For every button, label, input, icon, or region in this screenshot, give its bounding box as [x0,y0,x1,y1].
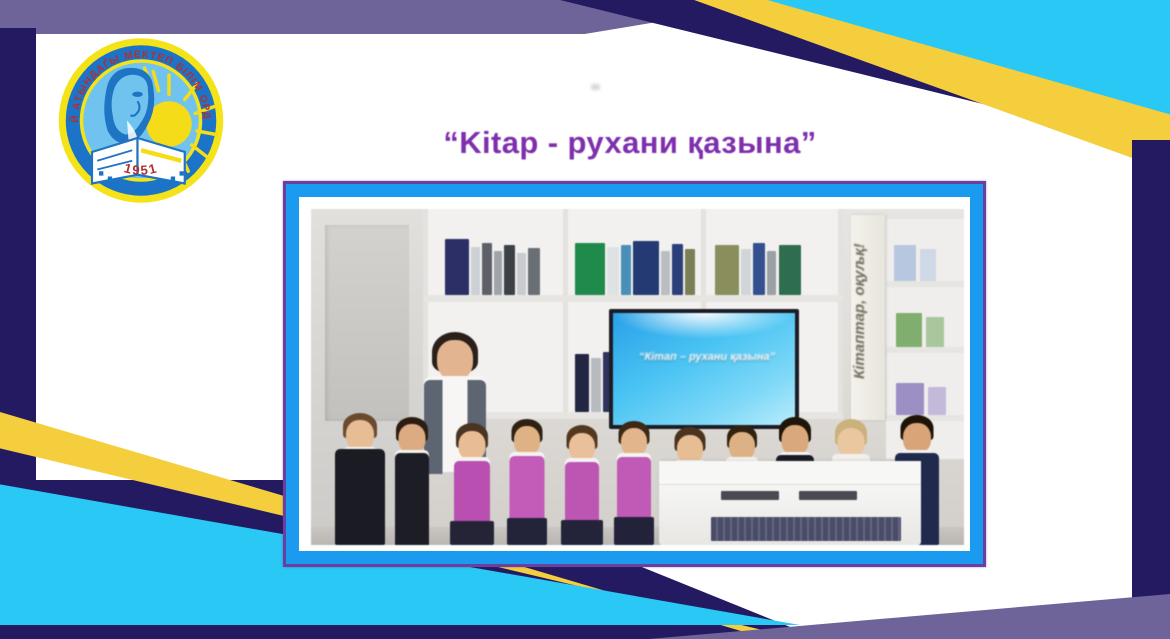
slide-title: “Kіtap - рухани қазына” [300,125,960,161]
decor-bottom-purple-band [380,594,1170,639]
school-emblem-logo: АБАЙ АТЫНДАҐЫ МЕКТЕП БІЛІМ ОРДАСЫ 1951 [45,33,237,208]
emblem-year-text: 1951 [122,160,159,178]
photo-wall-alcove [325,225,409,421]
screen-frost-effect [613,313,795,339]
photo-pupil [383,417,441,545]
screen-slide-text: “Кітап – рухани қазына” [621,351,793,365]
photo-presentation-screen: “Кітап – рухани қазына” [609,309,799,429]
image-artifact-dot [591,84,600,90]
photo-banner-text: Кітаптар, oқyљқ! [851,209,868,379]
decor-right-navy-bar [1132,140,1170,639]
decor-left-navy-bar [0,28,36,498]
presentation-slide: АБАЙ АТЫНДАҐЫ МЕКТЕП БІЛІМ ОРДАСЫ 1951 “… [0,0,1170,639]
library-event-photo: “Кітап – рухани қазына” Кітаптар, oқyљқ! [311,209,964,545]
photo-pupil [499,419,555,545]
photo-pupil [329,413,391,545]
photo-vertical-banner: Кітаптар, oқyљқ! [851,215,885,420]
photo-piano [659,461,921,545]
decor-top-purple-band [0,0,790,34]
photo-pupil [443,423,501,545]
photo-pupil [554,425,609,545]
decor-top-cyan-stripe [560,0,1170,200]
photo-frame: “Кітап – рухани қазына” Кітаптар, oқyљқ! [283,181,986,567]
photo-piano-keys [711,517,901,541]
photo-pupil [607,421,661,545]
abai-emblem-icon: АБАЙ АТЫНДАҐЫ МЕКТЕП БІЛІМ ОРДАСЫ 1951 [45,33,237,208]
